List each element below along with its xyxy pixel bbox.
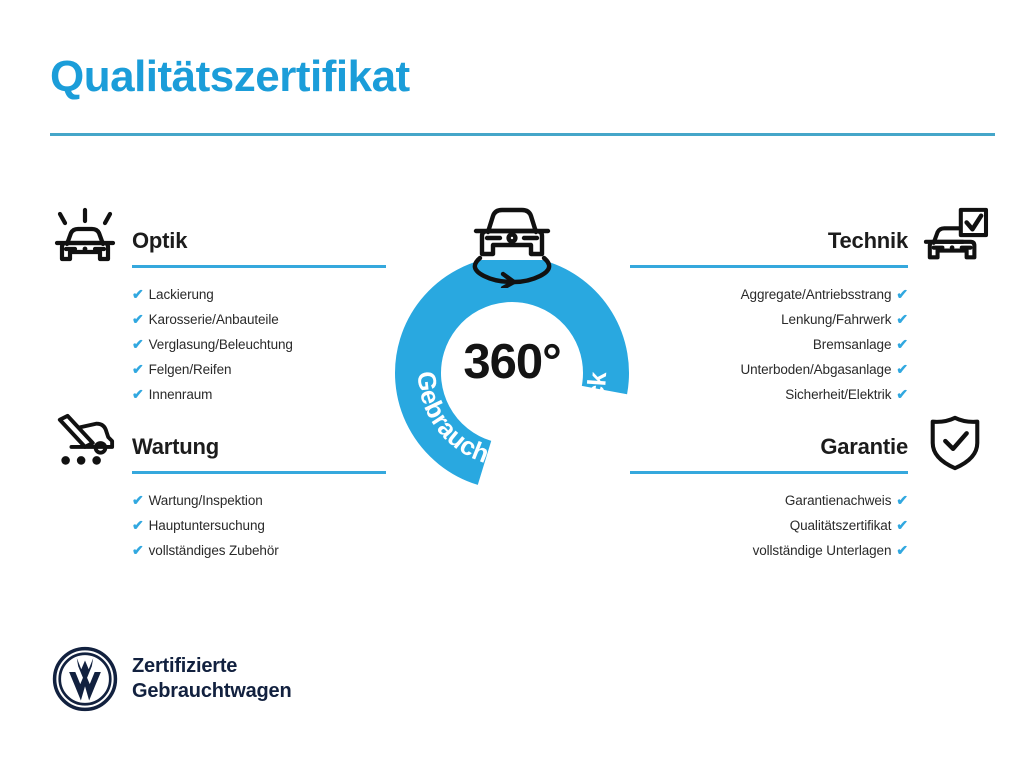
list-item: Garantienachweis✔ bbox=[630, 488, 908, 513]
list-item-label: Unterboden/Abgasanlage bbox=[740, 362, 891, 377]
list-item-label: Lackierung bbox=[149, 287, 214, 302]
car-rotate-icon bbox=[462, 196, 562, 288]
section-technik-title: Technik bbox=[828, 228, 908, 254]
section-technik-list: Aggregate/Antriebsstrang✔ Lenkung/Fahrwe… bbox=[630, 282, 994, 407]
list-item: ✔Hauptuntersuchung bbox=[132, 513, 386, 538]
check-icon: ✔ bbox=[132, 286, 144, 302]
check-icon: ✔ bbox=[896, 286, 908, 302]
list-item-label: Wartung/Inspektion bbox=[149, 493, 263, 508]
check-icon: ✔ bbox=[132, 361, 144, 377]
list-item: ✔Lackierung bbox=[132, 282, 386, 307]
vw-logo-line2: Gebrauchtwagen bbox=[132, 679, 291, 704]
list-item-label: Lenkung/Fahrwerk bbox=[781, 312, 891, 327]
list-item-label: vollständige Unterlagen bbox=[753, 543, 892, 558]
section-optik-divider bbox=[132, 265, 386, 268]
list-item: Aggregate/Antriebsstrang✔ bbox=[630, 282, 908, 307]
section-wartung-title: Wartung bbox=[132, 434, 219, 460]
list-item-label: Verglasung/Beleuchtung bbox=[149, 337, 293, 352]
check-icon: ✔ bbox=[132, 386, 144, 402]
list-item-label: Felgen/Reifen bbox=[149, 362, 232, 377]
section-wartung-header: Wartung bbox=[46, 412, 386, 474]
section-garantie-header: Garantie bbox=[630, 412, 994, 474]
section-garantie-divider bbox=[630, 471, 908, 474]
list-item: vollständige Unterlagen✔ bbox=[630, 538, 908, 563]
list-item-label: Garantienachweis bbox=[785, 493, 891, 508]
badge-360-gebrauchtwagen-check: Gebrauchtwagen-Check 360° bbox=[378, 196, 646, 486]
check-icon: ✔ bbox=[896, 542, 908, 558]
list-item: Sicherheit/Elektrik✔ bbox=[630, 382, 908, 407]
section-technik-divider bbox=[630, 265, 908, 268]
check-icon: ✔ bbox=[896, 311, 908, 327]
list-item: ✔Karosserie/Anbauteile bbox=[132, 307, 386, 332]
list-item: Qualitätszertifikat✔ bbox=[630, 513, 908, 538]
shield-check-icon bbox=[916, 412, 994, 474]
check-icon: ✔ bbox=[896, 517, 908, 533]
list-item-label: Innenraum bbox=[149, 387, 213, 402]
list-item-label: Karosserie/Anbauteile bbox=[149, 312, 279, 327]
check-icon: ✔ bbox=[132, 311, 144, 327]
section-optik-title: Optik bbox=[132, 228, 187, 254]
check-icon: ✔ bbox=[896, 386, 908, 402]
section-garantie-list: Garantienachweis✔ Qualitätszertifikat✔ v… bbox=[630, 488, 994, 563]
list-item: ✔Wartung/Inspektion bbox=[132, 488, 386, 513]
badge-value: 360° bbox=[378, 334, 646, 390]
check-icon: ✔ bbox=[132, 517, 144, 533]
section-wartung: Wartung ✔Wartung/Inspektion ✔Hauptunters… bbox=[46, 412, 386, 563]
check-icon: ✔ bbox=[896, 492, 908, 508]
check-icon: ✔ bbox=[132, 492, 144, 508]
section-optik: Optik ✔Lackierung ✔Karosserie/Anbauteile… bbox=[46, 206, 386, 407]
section-technik: Technik Aggregate/Antriebsstrang✔ Lenkun… bbox=[630, 206, 994, 407]
list-item-label: vollständiges Zubehör bbox=[149, 543, 279, 558]
list-item-label: Aggregate/Antriebsstrang bbox=[741, 287, 892, 302]
list-item: Bremsanlage✔ bbox=[630, 332, 908, 357]
section-wartung-list: ✔Wartung/Inspektion ✔Hauptuntersuchung ✔… bbox=[46, 488, 386, 563]
list-item: ✔vollständiges Zubehör bbox=[132, 538, 386, 563]
list-item: Lenkung/Fahrwerk✔ bbox=[630, 307, 908, 332]
list-item: ✔Verglasung/Beleuchtung bbox=[132, 332, 386, 357]
vw-logo-line1: Zertifizierte bbox=[132, 654, 291, 679]
list-item: ✔Innenraum bbox=[132, 382, 386, 407]
certificate-page: Qualitätszertifikat Optik ✔Lackierung ✔K… bbox=[0, 0, 1024, 768]
check-icon: ✔ bbox=[896, 361, 908, 377]
page-title: Qualitätszertifikat bbox=[50, 52, 410, 102]
list-item-label: Qualitätszertifikat bbox=[790, 518, 892, 533]
check-icon: ✔ bbox=[132, 336, 144, 352]
list-item: Unterboden/Abgasanlage✔ bbox=[630, 357, 908, 382]
list-item: ✔Felgen/Reifen bbox=[132, 357, 386, 382]
section-technik-header: Technik bbox=[630, 206, 994, 268]
list-item-label: Bremsanlage bbox=[813, 337, 891, 352]
check-icon: ✔ bbox=[896, 336, 908, 352]
car-shine-icon bbox=[46, 206, 124, 268]
vw-logo-icon bbox=[52, 646, 118, 712]
car-checkbox-icon bbox=[916, 206, 994, 268]
vw-logo-wordmark: Zertifizierte Gebrauchtwagen bbox=[132, 654, 291, 704]
section-garantie-title: Garantie bbox=[820, 434, 908, 460]
vw-certified-used-cars-logo: Zertifizierte Gebrauchtwagen bbox=[52, 646, 291, 712]
pen-car-service-icon bbox=[46, 412, 124, 474]
section-optik-header: Optik bbox=[46, 206, 386, 268]
list-item-label: Sicherheit/Elektrik bbox=[785, 387, 891, 402]
check-icon: ✔ bbox=[132, 542, 144, 558]
section-garantie: Garantie Garantienachweis✔ Qualitätszert… bbox=[630, 412, 994, 563]
section-optik-list: ✔Lackierung ✔Karosserie/Anbauteile ✔Verg… bbox=[46, 282, 386, 407]
list-item-label: Hauptuntersuchung bbox=[149, 518, 265, 533]
section-wartung-divider bbox=[132, 471, 386, 474]
title-divider bbox=[50, 133, 995, 136]
